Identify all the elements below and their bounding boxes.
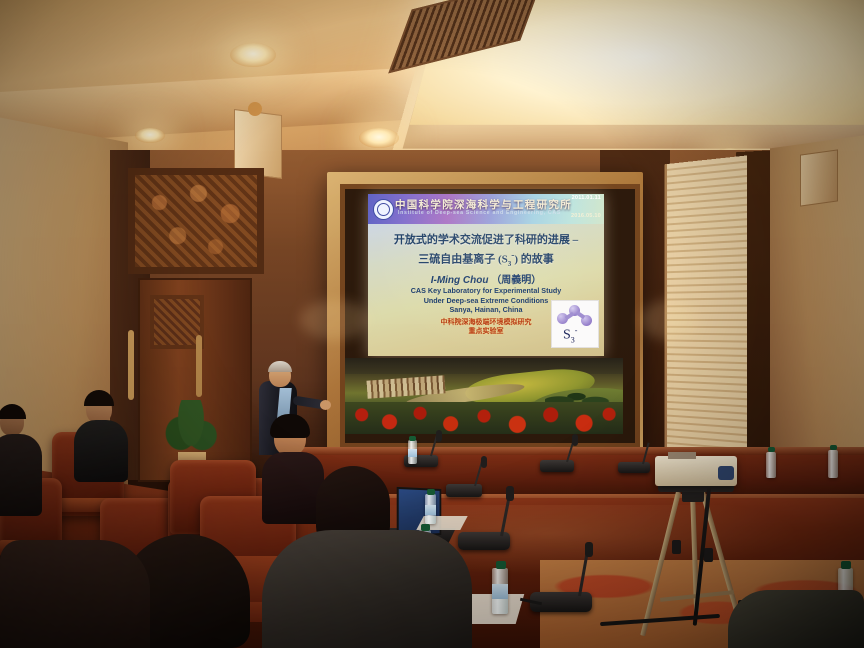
- person-torso: [728, 590, 864, 648]
- door-handle[interactable]: [128, 330, 134, 400]
- projector-top-panel: [668, 452, 696, 459]
- formula-sub: 3: [571, 335, 575, 344]
- bottle-cap: [409, 436, 416, 441]
- microphone-head: [585, 542, 593, 557]
- ceiling-downlight: [359, 128, 399, 148]
- projector-lens: [718, 466, 734, 480]
- slide-date-bottom: 2016.05.10: [571, 213, 601, 219]
- slide-title-line2: 三硫自由基离子 (S3-) 的故事: [368, 248, 604, 272]
- person-torso: [262, 530, 472, 648]
- water-bottle[interactable]: [828, 450, 838, 478]
- bottle-cap: [427, 489, 435, 495]
- molecular-bond: [565, 312, 575, 320]
- cas-idsse-logo: [373, 199, 394, 220]
- person-torso: [0, 540, 150, 648]
- conference-microphone-base[interactable]: [446, 484, 482, 497]
- title-line2-sub: 3: [508, 260, 512, 268]
- wall-speaker: [800, 149, 838, 206]
- institute-name-en: Institute of Deep-sea Science and Engine…: [398, 210, 588, 216]
- microphone-head: [436, 430, 442, 442]
- affiliation-line-1: CAS Key Laboratory for Experimental Stud…: [368, 286, 604, 296]
- presenter-hand: [320, 400, 331, 410]
- person-torso: [262, 452, 324, 524]
- molecule-diagram: S3-: [551, 300, 599, 348]
- author-name-en: I-Ming Chou: [431, 275, 489, 286]
- painting-red-flowers: [345, 402, 623, 434]
- bottle-label: [408, 449, 417, 457]
- slide-date-top: 2011.01.11: [572, 195, 601, 201]
- water-bottle[interactable]: [492, 568, 508, 614]
- molecular-bond: [576, 311, 586, 319]
- landscape-painting: [345, 358, 623, 434]
- person-torso: [74, 420, 128, 482]
- title-line2-pre: 三硫自由基离子 (S: [418, 254, 508, 266]
- carved-wood-panel: [128, 168, 264, 274]
- door-handle[interactable]: [196, 335, 202, 397]
- bottle-cap: [830, 445, 837, 450]
- conference-room-photo: 中国科学院深海科学与工程研究所 Institute of Deep-sea Sc…: [0, 0, 864, 648]
- ceiling-downlight: [135, 128, 165, 143]
- back-table-edge: [300, 447, 864, 455]
- bottle-label: [492, 584, 508, 599]
- slide-title-line1: 开放式的学术交流促进了科研的进展 –: [368, 233, 604, 248]
- person-torso: [0, 434, 42, 516]
- speaker-mount-knob: [248, 102, 262, 116]
- formula-element: S: [563, 328, 571, 343]
- tripod-leg-clamp[interactable]: [672, 540, 681, 554]
- molecule-formula-label: S3-: [563, 326, 577, 344]
- formula-sup: -: [575, 326, 578, 335]
- logo-inner-ring: [377, 203, 390, 216]
- water-bottle[interactable]: [766, 452, 776, 478]
- title-line2-post: ) 的故事: [514, 254, 553, 266]
- ceiling-downlight: [230, 43, 276, 67]
- author-name-cn: （周義明）: [491, 275, 541, 286]
- bottle-label: [425, 505, 436, 515]
- bottle-cap: [841, 561, 851, 569]
- slide-author: I-Ming Chou （周義明）: [368, 271, 604, 286]
- projected-slide: 中国科学院深海科学与工程研究所 Institute of Deep-sea Sc…: [368, 194, 604, 356]
- microphone-head: [572, 434, 578, 446]
- microphone-head: [481, 456, 487, 468]
- bottle-cap: [768, 447, 775, 452]
- conference-microphone-base[interactable]: [618, 462, 650, 473]
- slide-title: 开放式的学术交流促进了科研的进展 – 三硫自由基离子 (S3-) 的故事: [368, 233, 604, 272]
- water-bottle[interactable]: [408, 440, 417, 464]
- tripod-leg-clamp[interactable]: [704, 548, 713, 562]
- microphone-head: [506, 486, 514, 501]
- bottle-cap: [496, 561, 506, 569]
- conference-microphone-base[interactable]: [540, 460, 574, 472]
- water-bottle[interactable]: [425, 494, 436, 524]
